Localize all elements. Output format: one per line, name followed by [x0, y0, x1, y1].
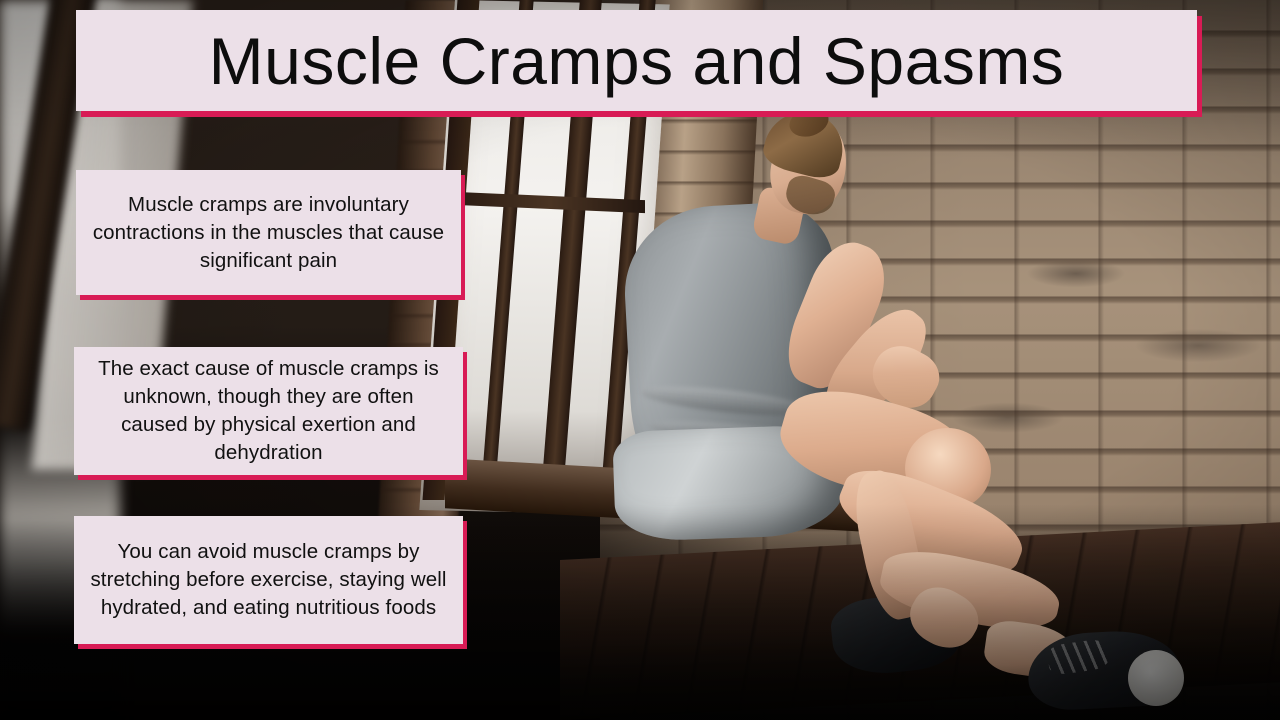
note-card-causes: The exact cause of muscle cramps is unkn…: [74, 347, 463, 475]
note-card-definition: Muscle cramps are involuntary contractio…: [76, 170, 461, 295]
page-title: Muscle Cramps and Spasms: [209, 28, 1065, 94]
note-text-definition: Muscle cramps are involuntary contractio…: [92, 191, 445, 275]
note-card-prevention: You can avoid muscle cramps by stretchin…: [74, 516, 463, 644]
title-card: Muscle Cramps and Spasms: [76, 10, 1197, 111]
slide-canvas: Muscle Cramps and Spasms Muscle cramps a…: [0, 0, 1280, 720]
note-text-causes: The exact cause of muscle cramps is unkn…: [90, 355, 447, 467]
note-text-prevention: You can avoid muscle cramps by stretchin…: [90, 538, 447, 622]
